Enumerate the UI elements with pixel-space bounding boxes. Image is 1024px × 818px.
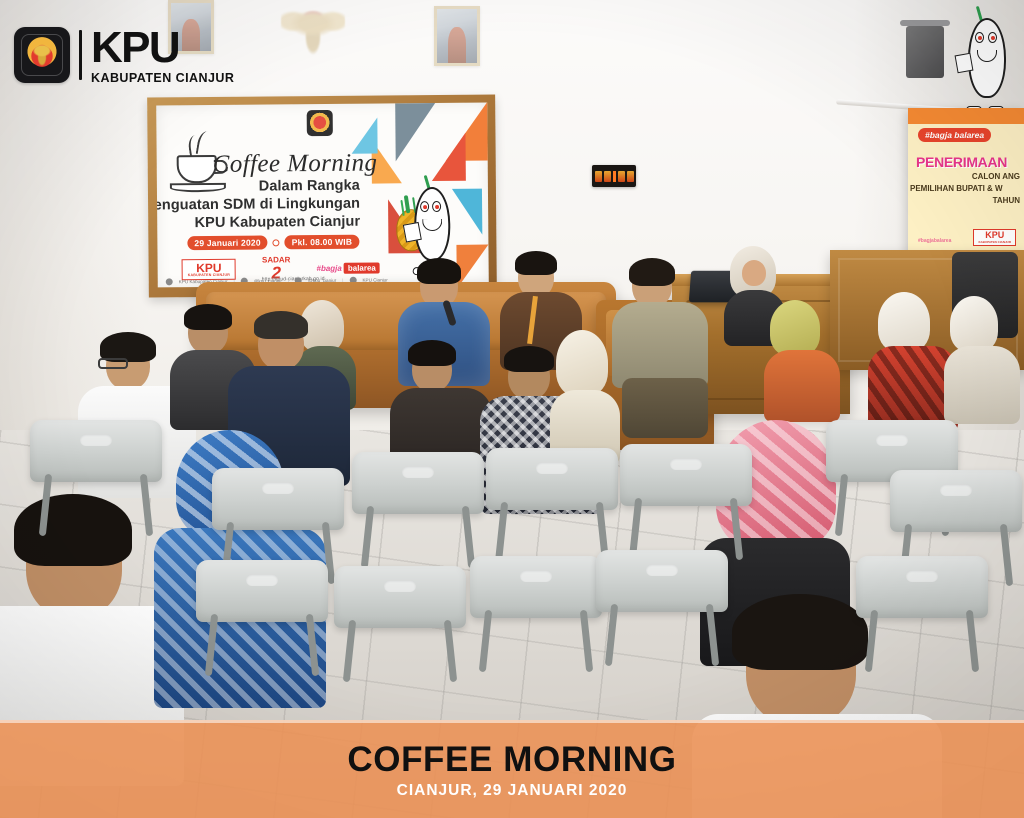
roll-banner-alt-logo: #bagjabalarea [918,238,951,244]
brand-wordmark: KPU KABUPATEN CIANJUR [91,26,234,85]
roll-banner-tag: #bagja balarea [918,128,991,142]
caption-title: COFFEE MORNING [347,742,676,777]
banner-time: Pkl. 08.00 WIB [285,235,360,250]
kpu-brand-logo: KPU KABUPATEN CIANJUR [14,26,234,85]
digital-led-clock-icon [592,165,636,187]
roll-banner-headline: PENERIMAAN [916,154,1024,170]
folding-chair [890,470,1022,566]
facebook-icon [166,278,173,285]
banner-date: 29 Januari 2020 [187,235,267,250]
folding-chair [596,550,728,646]
bullet-icon [273,239,280,246]
bagja-balarea-logo: #bagja balarea [316,262,379,274]
event-photograph: Coffee Morning Dalam Rangka Penguatan SD… [0,0,1024,818]
wall-speaker-bracket-icon [906,26,944,78]
kpu-seal-icon [14,27,70,83]
folding-chair [212,468,344,564]
roll-banner-kpu-logo: KPU KABUPATEN CIANJUR [973,229,1016,246]
framed-official-portrait-right [434,6,480,66]
folding-chair [856,556,988,652]
caption-bar: COFFEE MORNING CIANJUR, 29 JANUARI 2020 [0,720,1024,818]
folding-chair [352,452,484,548]
brand-divider [79,30,82,80]
kpu-seal-icon [306,110,332,136]
roll-banner-sub-3: TAHUN [993,196,1020,205]
folding-chair [486,448,618,544]
banner-datetime: 29 Januari 2020 Pkl. 08.00 WIB [187,235,359,250]
banner-title: Coffee Morning [213,150,378,179]
roll-up-banner: #bagja balarea PENERIMAAN CALON ANG PEMI… [908,108,1024,260]
folding-chair [196,560,328,656]
folding-chair [334,566,466,662]
roll-logo-subtext: KABUPATEN CIANJUR [978,241,1011,244]
folding-chair [470,556,602,652]
eyeglasses-icon [98,358,128,369]
brand-subtitle: KABUPATEN CIANJUR [91,72,234,85]
roll-banner-mascot-icon [958,10,1014,114]
banner-line-3: KPU Kabupaten Cianjur [195,214,361,231]
caption-subtitle: CIANJUR, 29 JANUARI 2020 [397,782,628,800]
banner-line-1: Dalam Rangka [259,178,360,195]
brand-name: KPU [91,26,234,70]
roll-banner-sub-2: PEMILIHAN BUPATI & W [910,184,1020,193]
roll-banner-sub-1: CALON ANG [972,172,1020,181]
folding-chair [620,444,752,540]
banner-shape [351,118,377,154]
bagja-text: #bagja [316,264,341,273]
banner-shape [431,133,465,181]
folding-chair [30,420,162,516]
screenshot-root: Coffee Morning Dalam Rangka Penguatan SD… [0,0,1024,818]
banner-line-2: Penguatan SDM di Lingkungan [156,196,360,214]
balarea-text: balarea [344,262,380,273]
garuda-pancasila-emblem-icon [281,4,345,62]
roll-logo-text: KPU [985,230,1004,240]
